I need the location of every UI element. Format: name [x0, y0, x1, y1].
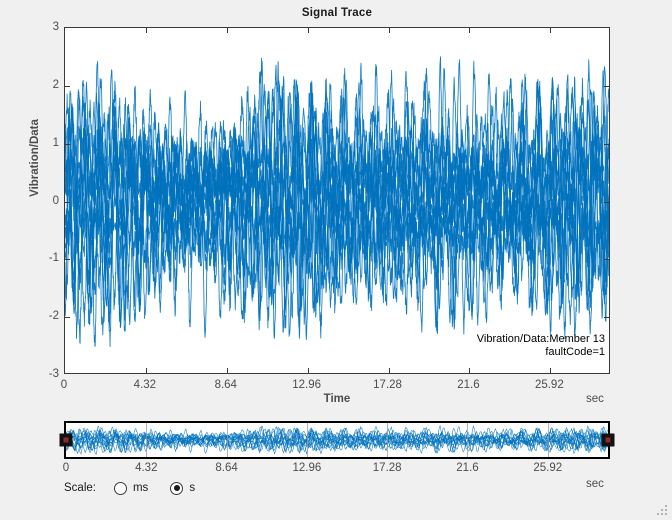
overview-x-tick-label: 4.32 — [135, 462, 157, 474]
x-tick-mark-top — [469, 28, 470, 33]
main-plot-axes[interactable]: Vibration/Data:Member 13faultCode=1 — [64, 27, 610, 374]
overview-gridline — [548, 423, 549, 457]
x-tick-mark-top — [308, 28, 309, 33]
y-tick-mark — [65, 317, 70, 318]
overview-gridline — [227, 423, 228, 457]
range-handle-right[interactable] — [602, 434, 615, 447]
overview-x-tick-label: 12.96 — [292, 462, 321, 474]
resize-grip-dot — [665, 509, 667, 511]
resize-grip-dot — [661, 513, 663, 515]
overview-gridline — [146, 423, 147, 457]
x-tick-label: 8.64 — [215, 379, 237, 391]
x-tick-label: 21.6 — [457, 379, 479, 391]
overview-gridline — [467, 423, 468, 457]
range-handle-left[interactable] — [60, 434, 73, 447]
y-tick-mark-right — [604, 144, 609, 145]
x-tick-mark — [146, 368, 147, 373]
x-axis-label: Time — [64, 393, 610, 405]
y-axis-label: Vibration/Data — [29, 58, 41, 258]
y-tick-mark — [65, 202, 70, 203]
overview-gridline — [307, 423, 308, 457]
x-tick-label: 4.32 — [134, 379, 156, 391]
overview-x-tick-label: 0 — [63, 462, 69, 474]
y-tick-mark — [65, 86, 70, 87]
overview-x-axis-unit: sec — [586, 478, 604, 490]
overview-x-tick-label: 17.28 — [373, 462, 402, 474]
overview-x-tick-label: 21.6 — [456, 462, 478, 474]
x-tick-mark — [308, 368, 309, 373]
y-tick-mark-right — [604, 317, 609, 318]
resize-grip-dot — [657, 513, 659, 515]
resize-grip-dot — [665, 513, 667, 515]
y-tick-label: -3 — [7, 368, 59, 380]
scale-option-s-label: s — [189, 482, 195, 494]
scale-option-ms-label: ms — [133, 482, 148, 494]
y-tick-mark-right — [604, 259, 609, 260]
y-tick-mark-right — [604, 86, 609, 87]
y-tick-label: 3 — [7, 21, 59, 33]
overview-signal-lines — [66, 423, 608, 457]
x-tick-mark-top — [146, 28, 147, 33]
x-tick-mark-top — [227, 28, 228, 33]
x-tick-label: 12.96 — [292, 379, 321, 391]
x-tick-mark-top — [550, 28, 551, 33]
x-tick-label: 17.28 — [373, 379, 402, 391]
scale-label: Scale: — [64, 482, 96, 494]
scale-control-row: Scale: ms s — [64, 478, 217, 498]
x-tick-label: 25.92 — [535, 379, 564, 391]
y-tick-mark — [65, 144, 70, 145]
x-tick-mark — [469, 368, 470, 373]
x-tick-label: 0 — [61, 379, 67, 391]
resize-grip-dot — [665, 505, 667, 507]
radio-ms-icon[interactable] — [114, 482, 127, 495]
resize-grip-icon[interactable] — [657, 505, 669, 517]
x-tick-mark — [227, 368, 228, 373]
x-axis-unit: sec — [586, 393, 604, 405]
resize-grip-dot — [661, 509, 663, 511]
x-tick-mark-top — [389, 28, 390, 33]
signal-trace-lines — [65, 28, 609, 373]
y-tick-mark-right — [604, 202, 609, 203]
y-tick-mark — [65, 259, 70, 260]
overview-x-tick-label: 8.64 — [215, 462, 237, 474]
overview-range-selector[interactable] — [64, 421, 610, 459]
x-tick-mark — [389, 368, 390, 373]
scale-option-s[interactable]: s — [170, 482, 195, 495]
scale-option-ms[interactable]: ms — [114, 482, 148, 495]
overview-gridline — [387, 423, 388, 457]
y-tick-label: -2 — [7, 310, 59, 322]
x-tick-mark — [550, 368, 551, 373]
page-title: Signal Trace — [64, 7, 610, 19]
overview-x-tick-label: 25.92 — [533, 462, 562, 474]
radio-s-icon[interactable] — [170, 482, 183, 495]
